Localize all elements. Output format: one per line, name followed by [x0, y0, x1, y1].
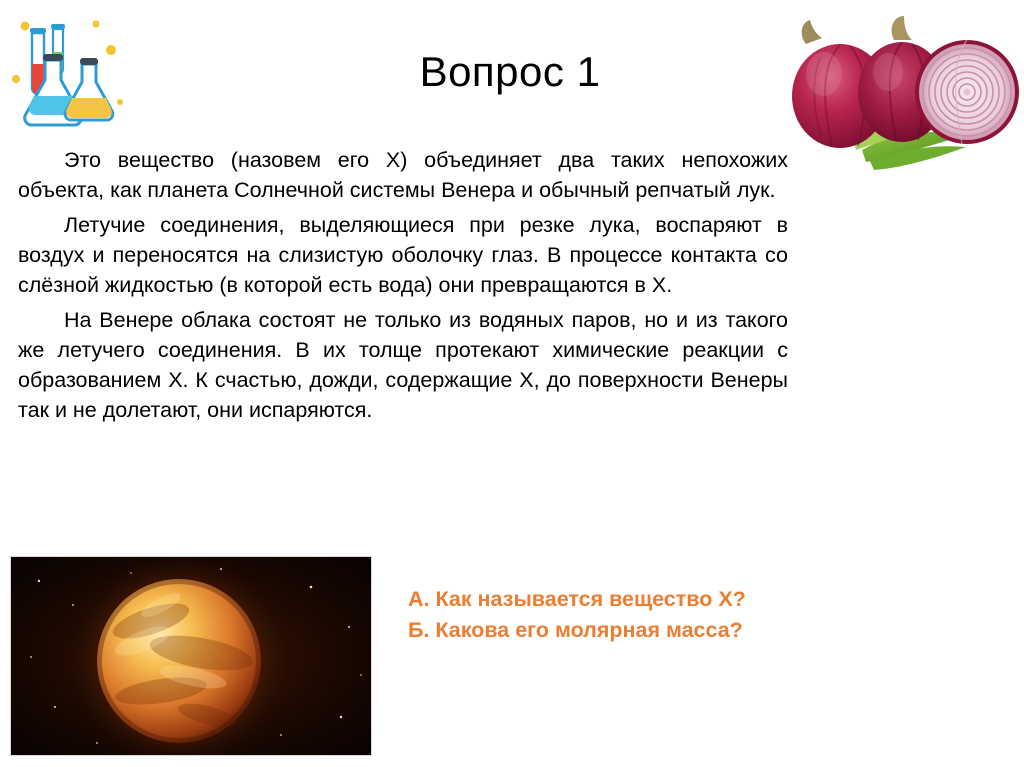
question-b: Б. Какова его молярная масса? [408, 615, 968, 646]
questions-block: А. Как называется вещество Х? Б. Какова … [408, 584, 968, 646]
decorative-dot-icon [12, 75, 20, 83]
decorative-dot-icon [21, 22, 30, 31]
question-a: А. Как называется вещество Х? [408, 584, 968, 615]
chemistry-flasks-image [10, 16, 128, 128]
slide-body-text: Это вещество (назовем его Х) объединяет … [18, 145, 788, 425]
body-paragraph: На Венере облака состоят не только из во… [18, 305, 788, 425]
decorative-dot-icon [106, 45, 116, 55]
body-paragraph: Это вещество (назовем его Х) объединяет … [18, 145, 788, 205]
planet-venus-image [10, 556, 372, 756]
decorative-dot-icon [93, 21, 100, 28]
red-onions-image [754, 0, 1024, 182]
erlenmeyer-flask-icon [65, 58, 113, 120]
halved-onion-icon [915, 40, 1019, 144]
body-paragraph: Летучие соединения, выделяющиеся при рез… [18, 210, 788, 300]
decorative-dot-icon [117, 99, 123, 105]
venus-planet-icon [97, 579, 261, 743]
slide-title: Вопрос 1 [290, 48, 730, 96]
